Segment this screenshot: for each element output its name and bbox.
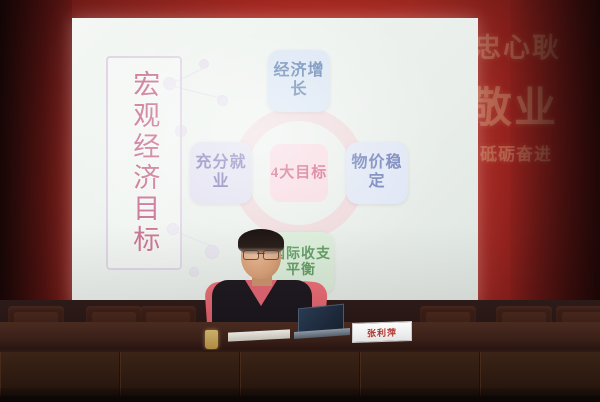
nameplate: 张利萍 [352,321,412,343]
slide-title-box: 宏观经济目标 [106,56,182,270]
goal-center-label: 4大目标 [270,144,328,202]
photo-scene: 忠心耿 敬业 砥砺奋进 宏观经济目标 经济增长 充分就业 物价稳定 国际收支平衡… [0,0,600,402]
banner-shadow-left [0,0,72,330]
nameplate-text: 张利萍 [367,325,397,339]
slide-title-text: 宏观经济目标 [127,70,162,256]
deco-dot-icon [190,268,198,276]
goal-full-employment: 充分就业 [190,142,252,204]
glasses-icon [243,250,279,259]
tea-cup [205,330,218,349]
deco-dot-icon [200,60,208,68]
foreground-shadow [0,388,600,402]
goal-economic-growth: 经济增长 [268,50,330,112]
goal-price-stability: 物价稳定 [346,142,408,204]
deco-dot-icon [206,246,218,258]
banner-shadow-right [510,0,600,330]
glasses-lens-left [243,250,259,260]
glasses-lens-right [263,250,279,260]
